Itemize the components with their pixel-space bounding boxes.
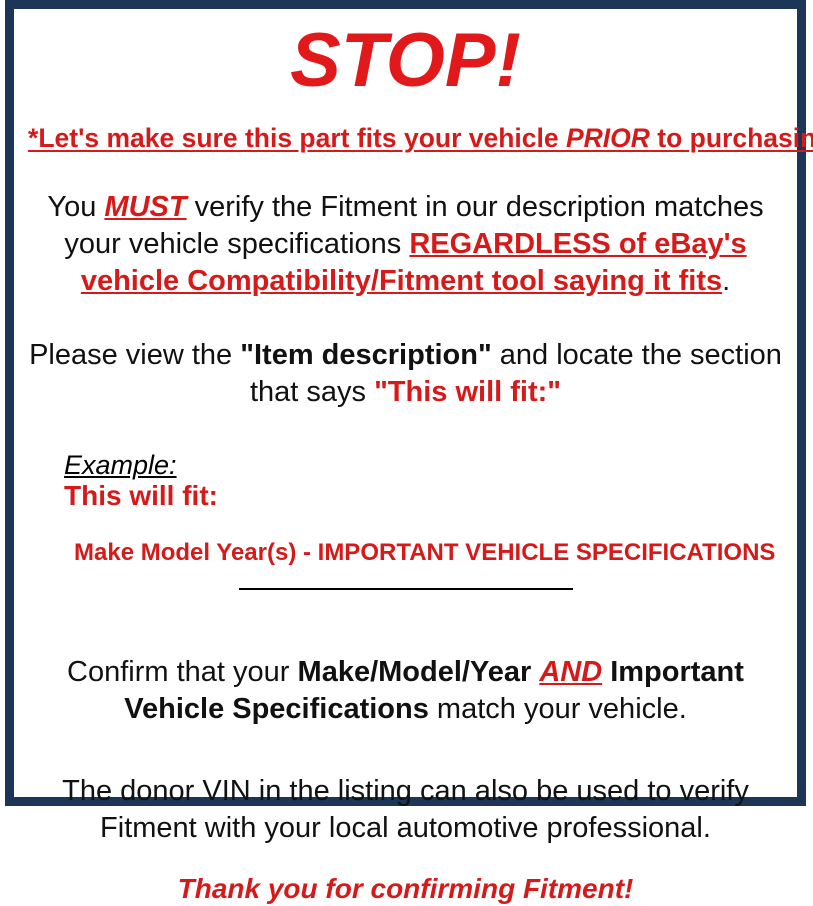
example-label: Example: [64,450,177,480]
must-seg-period: . [722,265,730,297]
fitment-notice-card: STOP! *Let's make sure this part fits yo… [5,0,806,806]
notice-content: STOP! *Let's make sure this part fits yo… [14,9,797,797]
must-emphasis: MUST [104,191,186,223]
donor-vin-paragraph: The donor VIN in the listing can also be… [28,727,783,846]
must-verify-paragraph: You MUST verify the Fitment in our descr… [28,153,783,299]
divider-wrapper [28,566,783,610]
example-block: Example: This will fit: Make Model Year(… [28,410,783,566]
headline-lead-text: *Let's make sure this part fits your veh… [28,123,566,153]
headline-emphasis-prior: PRIOR [566,123,650,153]
example-spec-line: Make Model Year(s) - IMPORTANT VEHICLE S… [64,513,783,567]
confirm-seg-lead: Confirm that your [67,656,297,688]
headline-banner: *Let's make sure this part fits your veh… [28,99,783,153]
confirm-and-emphasis: AND [539,656,602,688]
page-title: STOP! [28,9,783,99]
confirm-seg-tail: match your vehicle. [429,693,687,725]
item-description-paragraph: Please view the "Item description" and l… [28,299,783,410]
itemdesc-seg-lead: Please view the [29,339,240,371]
example-this-will-fit: This will fit: [64,480,783,512]
example-label-row: Example: [64,450,783,480]
confirm-paragraph: Confirm that your Make/Model/Year AND Im… [28,610,783,727]
must-seg-lead: You [47,191,104,223]
thank-you-message: Thank you for confirming Fitment! [28,846,783,906]
item-description-label: "Item description" [240,339,491,371]
horizontal-divider [239,588,573,590]
headline-tail-text: to purchasing* [650,123,813,153]
this-will-fit-quote: "This will fit:" [374,376,561,408]
confirm-make-model-year: Make/Model/Year [298,656,540,688]
